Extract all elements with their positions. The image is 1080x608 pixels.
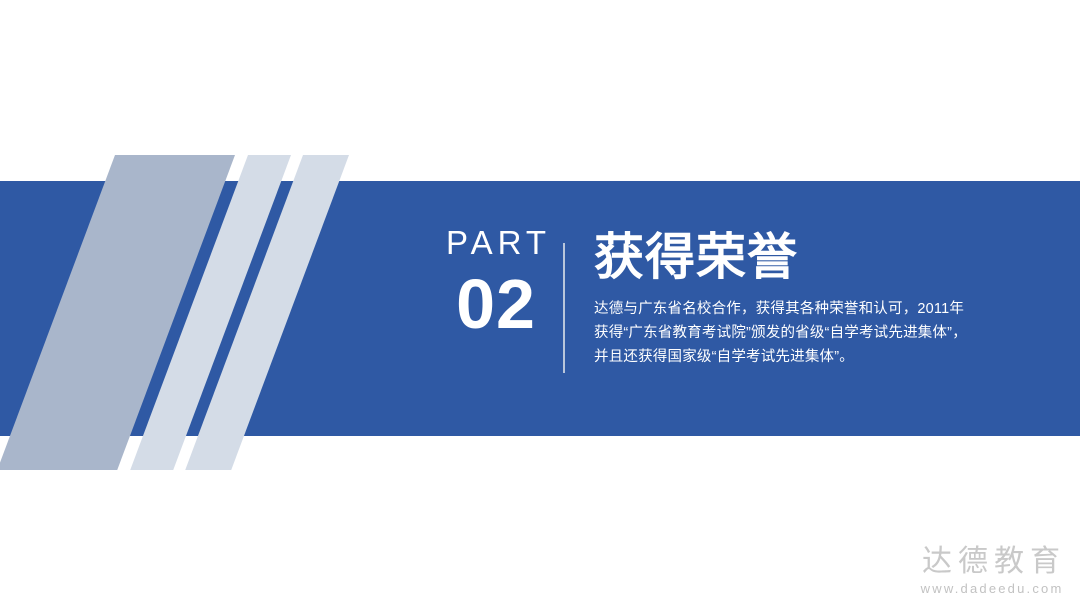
part-label: PART [440, 224, 552, 262]
vertical-divider [563, 243, 565, 373]
watermark-brand: 达德教育 [916, 545, 1066, 579]
section-description: 达德与广东省名校合作，获得其各种荣誉和认可，2011年获得“广东省教育考试院”颁… [594, 297, 978, 369]
slide-canvas: PART 02 获得荣誉 达德与广东省名校合作，获得其各种荣誉和认可，2011年… [0, 0, 1080, 608]
page-title: 获得荣誉 [594, 229, 994, 285]
part-block: PART 02 [440, 224, 552, 342]
section-content: PART 02 获得荣誉 达德与广东省名校合作，获得其各种荣誉和认可，2011年… [0, 181, 1080, 436]
text-block: 获得荣誉 达德与广东省名校合作，获得其各种荣誉和认可，2011年获得“广东省教育… [594, 229, 994, 369]
watermark-url: www.dadeedu.com [916, 580, 1066, 598]
watermark: 达德教育 www.dadeedu.com [916, 545, 1066, 598]
part-number: 02 [440, 266, 552, 342]
